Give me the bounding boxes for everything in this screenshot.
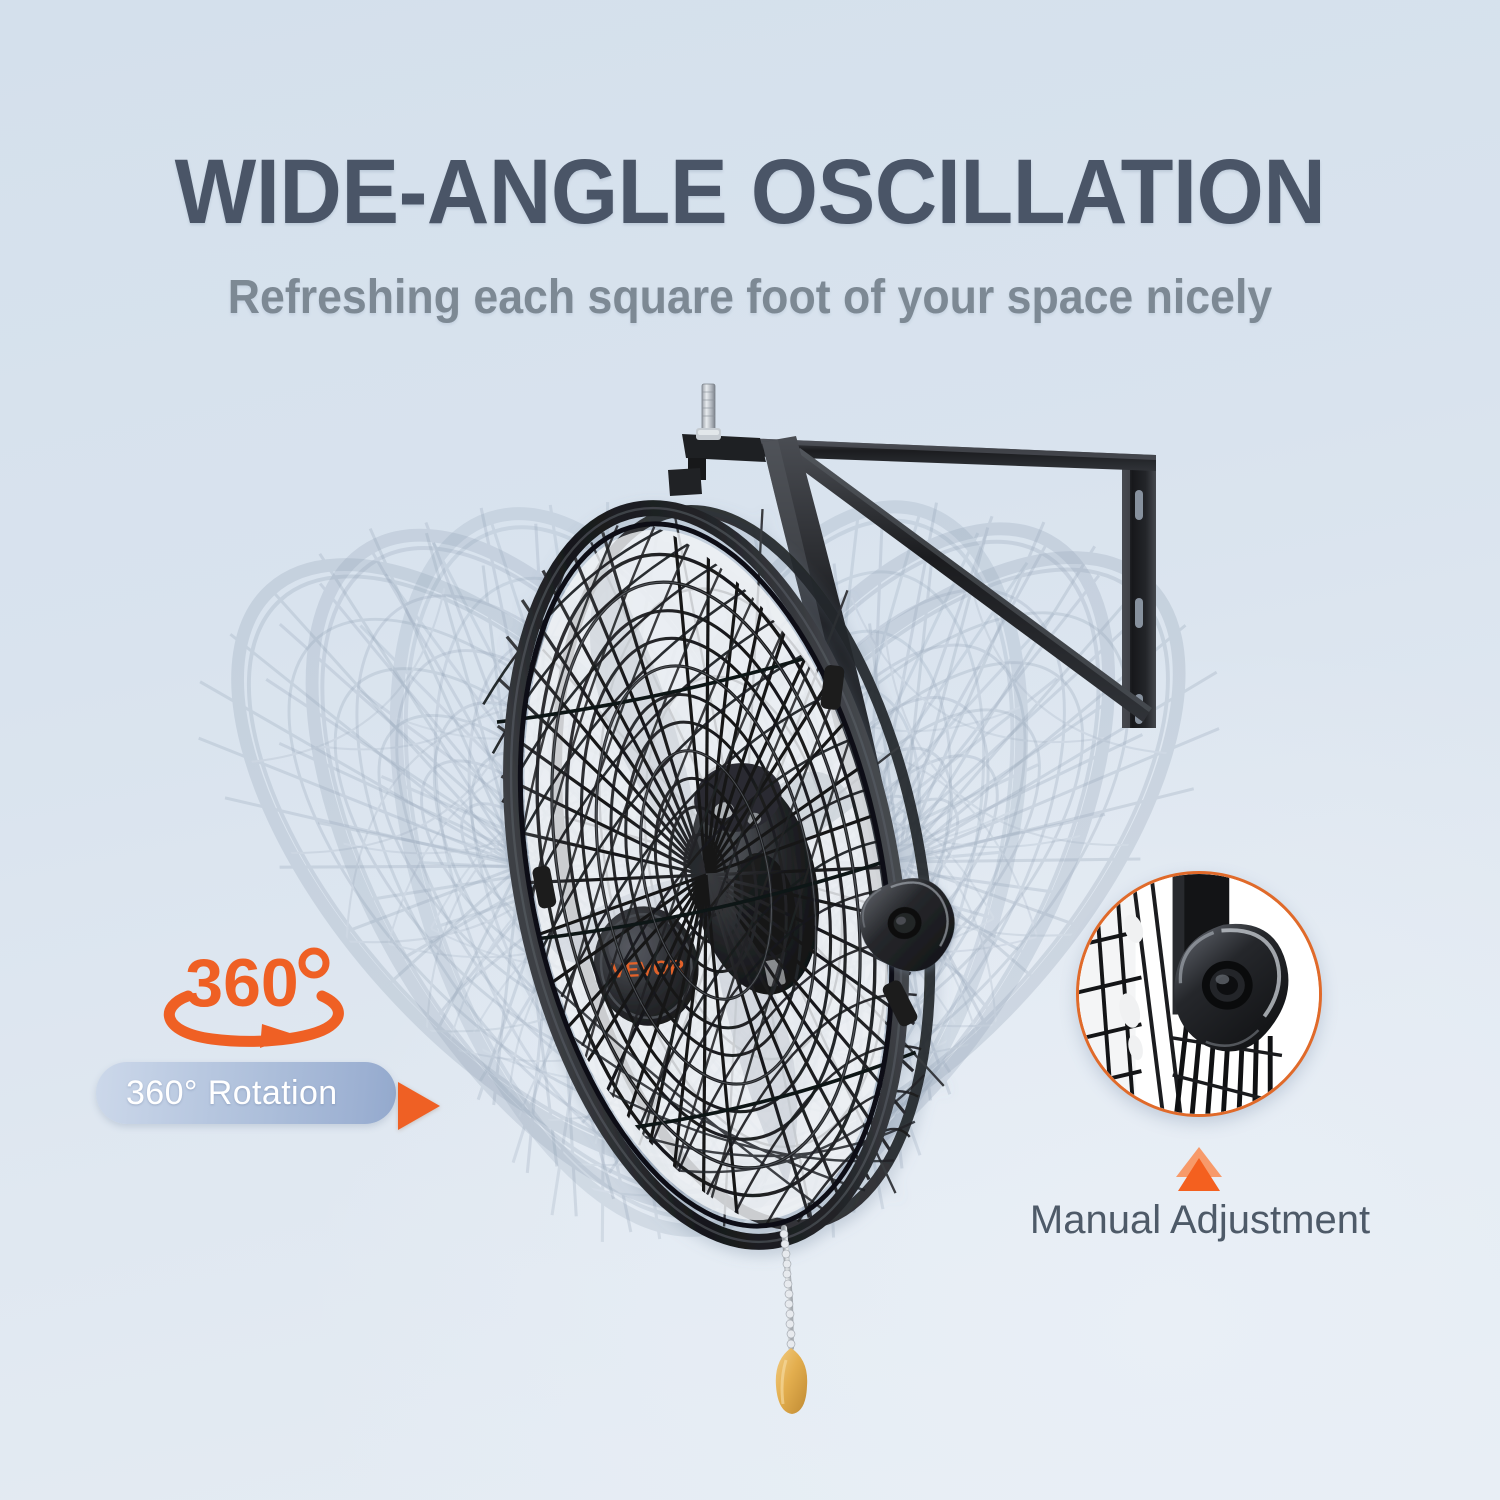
fan-outer-rim <box>453 475 958 1276</box>
knob-closeup-inset <box>1076 871 1322 1117</box>
bracket-diagonal-brace <box>790 448 1152 722</box>
pivot-bolt <box>696 384 721 440</box>
orange-right-arrow-icon <box>398 1082 440 1130</box>
oscillation-ghost-trails <box>138 452 1280 1283</box>
manual-adjustment-label: Manual Adjustment <box>1010 1198 1390 1243</box>
rotation-badge: 360° Rotation <box>96 1062 396 1124</box>
product-feature-graphic: VEVOR <box>0 0 1500 1500</box>
page-subtitle: Refreshing each square foot of your spac… <box>53 272 1448 325</box>
360-degree-rotation-icon: 360 <box>154 940 364 1050</box>
pull-chain-knob <box>776 1348 807 1414</box>
fan-head: VEVOR <box>452 469 987 1276</box>
degree-symbol-icon <box>302 951 326 975</box>
adjustment-knob <box>852 871 964 981</box>
bracket-yoke-strap <box>762 436 905 905</box>
bracket-wall-plate <box>1122 455 1156 728</box>
rotation-badge-label: 360° Rotation <box>126 1074 338 1113</box>
manual-adjustment-callout <box>1076 871 1322 1117</box>
rotation-icon-number: 360 <box>185 945 298 1021</box>
fan-hub-logo-badge: VEVOR <box>584 897 709 1035</box>
pivot-hinge <box>682 434 766 462</box>
wall-mount-bracket <box>668 384 1156 905</box>
bracket-top-arm <box>718 437 1156 471</box>
orange-up-chevron-icon <box>1176 1147 1222 1191</box>
brand-logo-text: VEVOR <box>611 956 686 983</box>
page-title: WIDE-ANGLE OSCILLATION <box>45 146 1455 240</box>
motor-housing <box>670 752 836 1005</box>
pull-chain <box>776 1228 807 1414</box>
